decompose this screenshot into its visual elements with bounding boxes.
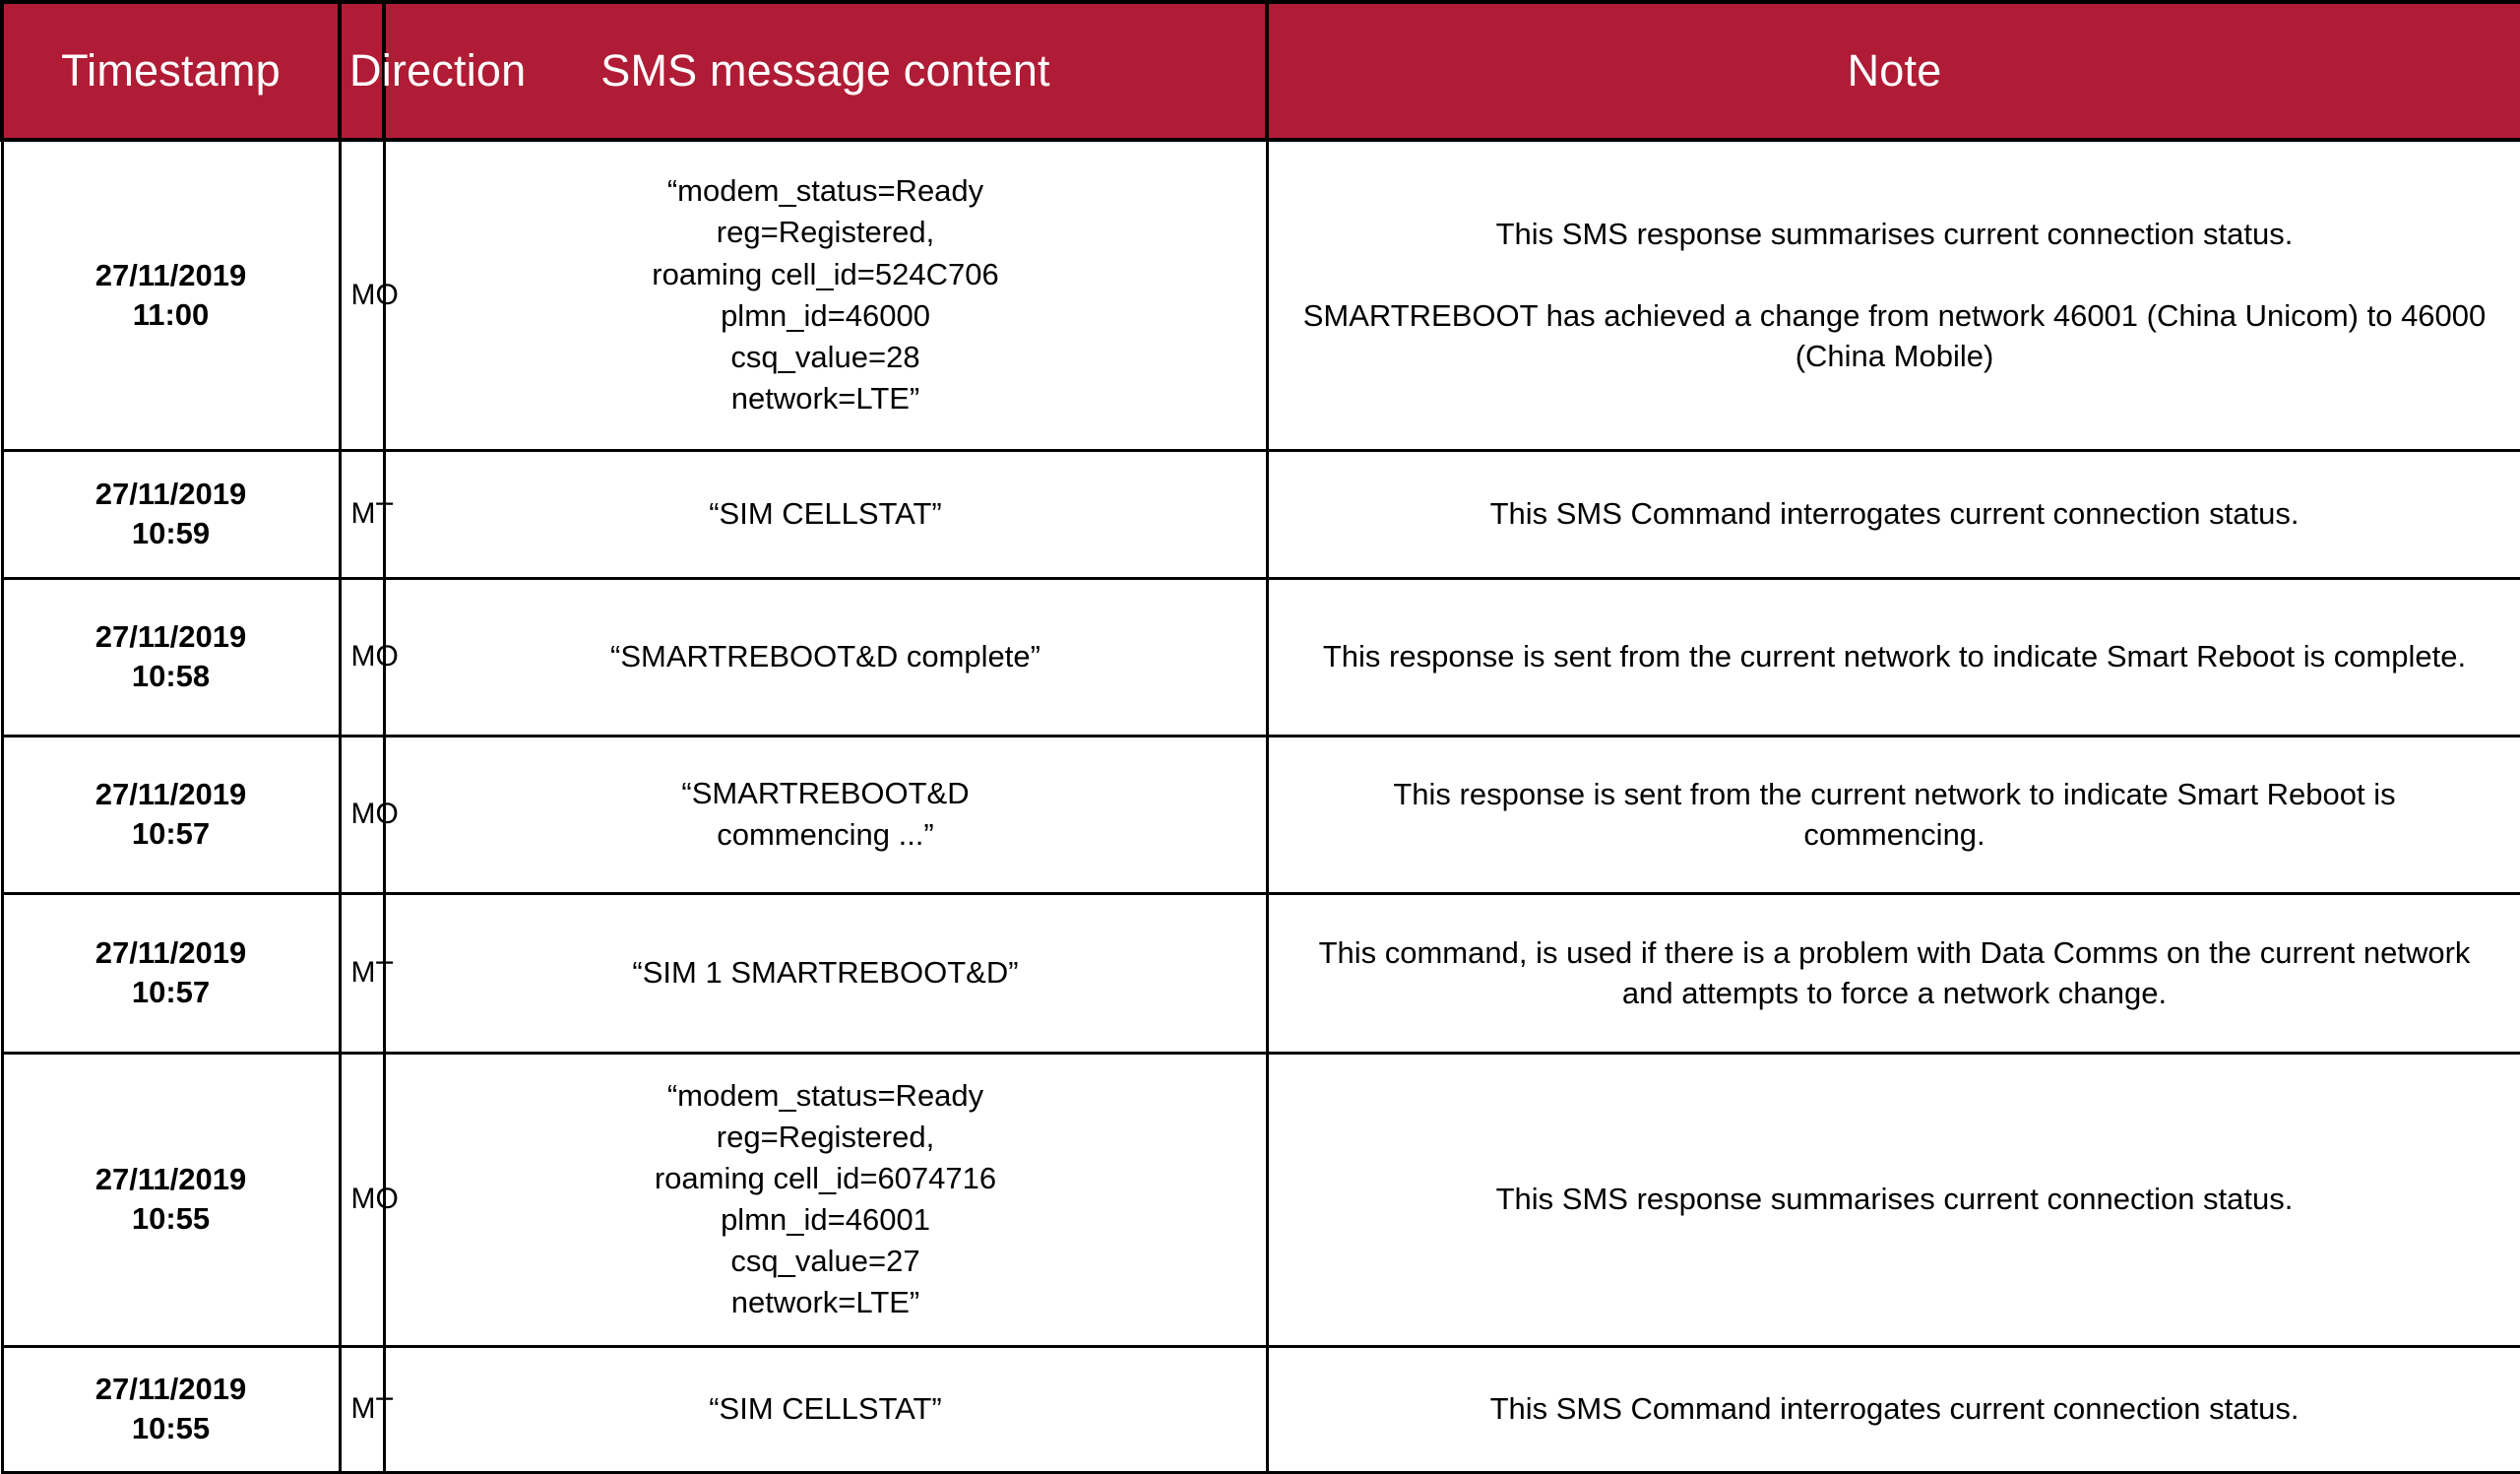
note-paragraph: This SMS response summarises current con… bbox=[1302, 1179, 2488, 1219]
cell-sms-message-content: “SMARTREBOOT&D commencing ...” bbox=[384, 736, 1267, 893]
note-paragraph: This response is sent from the current n… bbox=[1302, 774, 2488, 855]
table-row: 27/11/2019 10:58MO“SMARTREBOOT&D complet… bbox=[2, 578, 2520, 736]
sms-log-table: Timestamp Direction SMS message content … bbox=[0, 0, 2520, 1474]
cell-direction: MO bbox=[340, 140, 384, 450]
note-paragraph: This response is sent from the current n… bbox=[1302, 636, 2488, 676]
cell-timestamp: 27/11/2019 11:00 bbox=[2, 140, 340, 450]
note-paragraph: This SMS Command interrogates current co… bbox=[1302, 1388, 2488, 1429]
table-row: 27/11/2019 10:55MT“SIM CELLSTAT”This SMS… bbox=[2, 1346, 2520, 1472]
cell-note: This response is sent from the current n… bbox=[1267, 578, 2520, 736]
cell-sms-message-content: “SIM 1 SMARTREBOOT&D” bbox=[384, 893, 1267, 1053]
cell-timestamp: 27/11/2019 10:59 bbox=[2, 450, 340, 578]
cell-sms-message-content: “modem_status=Ready reg=Registered, roam… bbox=[384, 140, 1267, 450]
column-header-direction: Direction bbox=[340, 2, 384, 140]
cell-sms-message-content: “SIM CELLSTAT” bbox=[384, 450, 1267, 578]
table-row: 27/11/2019 10:57MT“SIM 1 SMARTREBOOT&D”T… bbox=[2, 893, 2520, 1053]
table-row: 27/11/2019 11:00MO“modem_status=Ready re… bbox=[2, 140, 2520, 450]
cell-note: This SMS response summarises current con… bbox=[1267, 140, 2520, 450]
cell-note: This SMS response summarises current con… bbox=[1267, 1053, 2520, 1346]
cell-timestamp: 27/11/2019 10:55 bbox=[2, 1053, 340, 1346]
cell-sms-message-content: “SIM CELLSTAT” bbox=[384, 1346, 1267, 1472]
note-paragraph: This SMS response summarises current con… bbox=[1302, 214, 2488, 254]
cell-direction: MT bbox=[340, 893, 384, 1053]
cell-direction: MT bbox=[340, 450, 384, 578]
cell-direction: MT bbox=[340, 1346, 384, 1472]
note-paragraph: This command, is used if there is a prob… bbox=[1302, 932, 2488, 1013]
cell-note: This command, is used if there is a prob… bbox=[1267, 893, 2520, 1053]
table-row: 27/11/2019 10:55MO“modem_status=Ready re… bbox=[2, 1053, 2520, 1346]
table-body: 27/11/2019 11:00MO“modem_status=Ready re… bbox=[2, 140, 2520, 1472]
cell-direction: MO bbox=[340, 1053, 384, 1346]
table-row: 27/11/2019 10:59MT“SIM CELLSTAT”This SMS… bbox=[2, 450, 2520, 578]
table-header: Timestamp Direction SMS message content … bbox=[2, 2, 2520, 140]
cell-note: This SMS Command interrogates current co… bbox=[1267, 1346, 2520, 1472]
header-row: Timestamp Direction SMS message content … bbox=[2, 2, 2520, 140]
table-row: 27/11/2019 10:57MO“SMARTREBOOT&D commenc… bbox=[2, 736, 2520, 893]
cell-timestamp: 27/11/2019 10:55 bbox=[2, 1346, 340, 1472]
cell-direction: MO bbox=[340, 578, 384, 736]
note-paragraph: SMARTREBOOT has achieved a change from n… bbox=[1302, 295, 2488, 376]
cell-timestamp: 27/11/2019 10:57 bbox=[2, 893, 340, 1053]
column-header-timestamp: Timestamp bbox=[2, 2, 340, 140]
cell-note: This response is sent from the current n… bbox=[1267, 736, 2520, 893]
column-header-note: Note bbox=[1267, 2, 2520, 140]
cell-note: This SMS Command interrogates current co… bbox=[1267, 450, 2520, 578]
note-paragraph: This SMS Command interrogates current co… bbox=[1302, 493, 2488, 534]
cell-timestamp: 27/11/2019 10:57 bbox=[2, 736, 340, 893]
cell-direction: MO bbox=[340, 736, 384, 893]
cell-timestamp: 27/11/2019 10:58 bbox=[2, 578, 340, 736]
cell-sms-message-content: “modem_status=Ready reg=Registered, roam… bbox=[384, 1053, 1267, 1346]
cell-sms-message-content: “SMARTREBOOT&D complete” bbox=[384, 578, 1267, 736]
